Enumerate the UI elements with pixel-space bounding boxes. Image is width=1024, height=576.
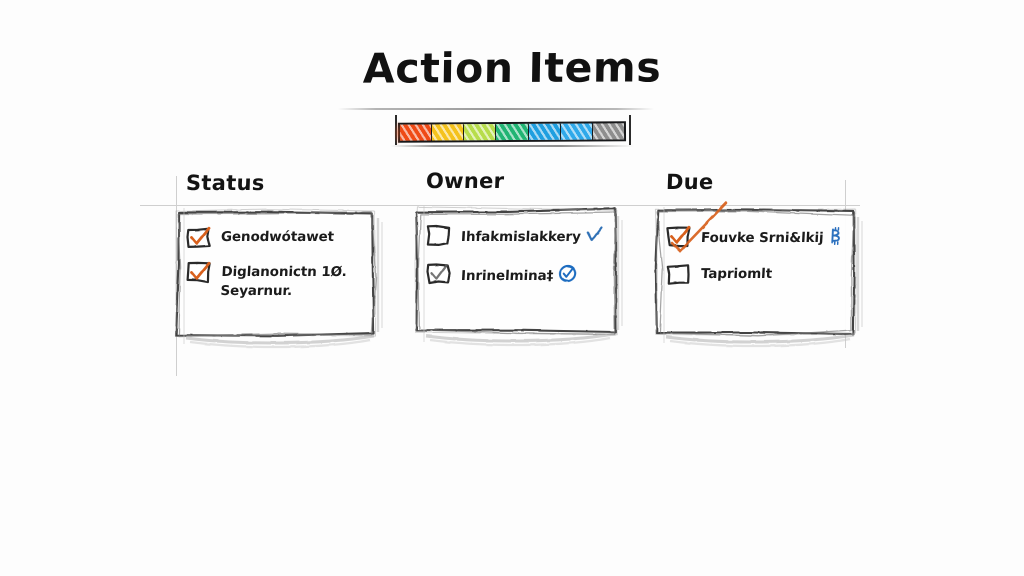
title-underline-rule — [338, 108, 654, 110]
checkbox-empty-icon[interactable] — [426, 225, 452, 247]
card-label-status: Status — [186, 171, 265, 195]
blue-check-icon — [585, 226, 603, 250]
checklist-item-label: Fouvke Srni&lkij — [700, 225, 846, 251]
legend-baseline — [390, 145, 634, 147]
legend-segment-4 — [496, 124, 528, 140]
card-label-due: Due — [666, 170, 714, 194]
card-body-due: Fouvke Srni&lkij Tapriomlt — [666, 225, 856, 286]
checkbox-empty-icon[interactable] — [666, 264, 692, 286]
checkbox-checked-icon[interactable] — [426, 263, 452, 285]
legend-segment-2 — [432, 124, 464, 140]
checklist-item[interactable]: Inrinelmina‡ — [426, 262, 616, 289]
checklist-item-subtext: Seyarnur. — [220, 282, 346, 301]
checklist-item-label: Tapriomlt — [700, 263, 772, 284]
checklist-item-text: Tapriomlt — [701, 266, 773, 282]
legend-segment-6 — [561, 124, 593, 140]
checklist-item-label: Diglanonictn 1Ø.Seyarnur. — [220, 261, 347, 301]
card-body-owner: Ihfakmislakkery Inrinelmina‡ — [426, 224, 616, 289]
sketch-canvas: Action Items Status GenodwótawetDiglanon… — [0, 0, 1024, 576]
checklist-item-text: Fouvke Srni&lkij — [701, 230, 824, 246]
legend-segment-1 — [400, 124, 432, 140]
card-status: Status GenodwótawetDiglanonictn 1Ø.Seyar… — [170, 204, 388, 364]
checklist-item[interactable]: Ihfakmislakkery — [426, 224, 616, 250]
card-due: Due Fouvke Srni&lkij Tapriomlt — [650, 203, 868, 363]
card-label-owner: Owner — [426, 169, 505, 193]
legend-segments — [398, 121, 626, 142]
checkbox-checked-icon[interactable] — [186, 227, 212, 249]
checklist-item-label: Genodwótawet — [220, 226, 334, 247]
checklist-item[interactable]: Genodwótawet — [186, 226, 376, 249]
checklist-item-label: Ihfakmislakkery — [460, 224, 603, 250]
circled-check-icon — [558, 264, 578, 289]
cards-row: Status GenodwótawetDiglanonictn 1Ø.Seyar… — [0, 180, 1024, 370]
legend-tick-right — [629, 115, 631, 145]
checklist-item-text: Genodwótawet — [221, 229, 335, 245]
checklist-item[interactable]: Fouvke Srni&lkij — [666, 225, 856, 251]
checklist-item[interactable]: Tapriomlt — [666, 263, 856, 286]
legend-segment-3 — [464, 124, 496, 140]
checklist-item-text: Ihfakmislakkery — [461, 229, 582, 245]
blue-glyph-icon — [828, 227, 846, 251]
legend-smudge — [394, 120, 402, 146]
page-title: Action Items — [362, 43, 661, 92]
checklist-item-text: Inrinelmina‡ — [461, 268, 554, 284]
checklist-item-label: Inrinelmina‡ — [460, 262, 578, 289]
checklist-item-text: Diglanonictn 1Ø. — [221, 264, 347, 280]
checklist-item[interactable]: Diglanonictn 1Ø.Seyarnur. — [186, 261, 376, 301]
checkbox-checked-icon[interactable] — [186, 262, 212, 284]
card-owner: Owner Ihfakmislakkery Inrinelmina‡ — [410, 202, 628, 362]
card-body-status: GenodwótawetDiglanonictn 1Ø.Seyarnur. — [186, 226, 376, 301]
page-title-container: Action Items — [0, 44, 1024, 92]
checkbox-checked-icon[interactable] — [666, 226, 692, 248]
legend-segment-5 — [529, 124, 561, 140]
color-legend-bar — [388, 117, 636, 151]
legend-segment-7 — [593, 123, 624, 139]
